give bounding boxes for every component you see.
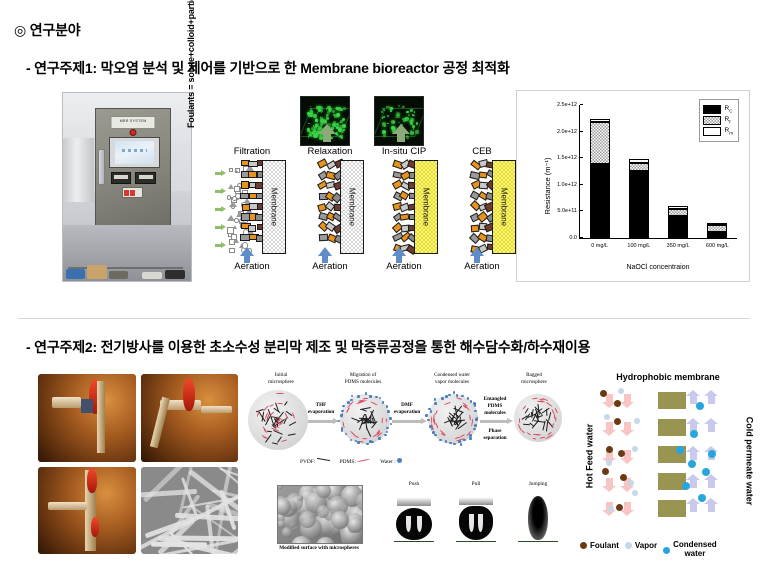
foulant-dot <box>618 450 625 457</box>
foulant-dot-icon <box>580 542 587 549</box>
foulants-axis-label: Foulants = solute+colloid+particle <box>186 0 196 128</box>
foulant-block <box>319 233 328 240</box>
pdms-chain-icon <box>357 458 370 463</box>
electrospinning-photo-1 <box>38 374 136 462</box>
water-molecule <box>441 397 444 400</box>
cake-layer <box>318 160 342 252</box>
chart-legend-swatch <box>703 105 721 114</box>
biofilm-dot <box>320 134 322 136</box>
droplet <box>91 517 100 536</box>
water-molecule <box>341 427 344 430</box>
vapor-dot <box>632 490 638 496</box>
droplet-title: Pull <box>452 481 500 487</box>
water-molecule <box>350 439 353 442</box>
indicator-lamp-icon <box>130 129 137 136</box>
water-molecule <box>453 391 456 394</box>
mbr-system-photo: MBR SYSTEM <box>62 92 192 282</box>
biofilm-dot <box>332 110 335 113</box>
chart-y-tick: 0.0 <box>569 235 580 241</box>
vapor-dot <box>608 506 614 512</box>
sem-caption: Modified surface with microspheres <box>258 545 380 551</box>
condensed-water-dot <box>702 468 710 476</box>
droplet-notch <box>417 516 422 532</box>
water-molecule <box>430 410 433 413</box>
biofilm-dot <box>311 127 314 130</box>
water-molecule <box>365 392 368 395</box>
biofilm-dot <box>412 125 414 127</box>
water-molecule <box>448 394 451 397</box>
foulant-particle <box>228 184 234 189</box>
chart-legend-swatch <box>703 116 721 125</box>
droplet-title: Push <box>390 481 438 487</box>
taylor-cone <box>87 468 98 493</box>
md-legend-label-line2: water <box>673 550 717 558</box>
md-legend-label: Foulant <box>590 541 619 550</box>
photo-pump-black <box>165 270 184 278</box>
biofilm-dot <box>338 128 342 132</box>
nanofiber <box>142 467 183 503</box>
biofilm-dot <box>337 113 339 115</box>
pdms-chain <box>354 435 359 438</box>
biofilm-dot <box>326 108 328 110</box>
chart-y-tick: 2.0e+12 <box>557 129 580 135</box>
md-left-axis: Hot Feed water <box>582 386 596 526</box>
pdms-chain <box>533 434 540 436</box>
chart-x-tick: 600 mg/L <box>706 243 729 249</box>
pdms-chain <box>444 402 451 405</box>
chart-legend-item: Rf <box>703 116 733 125</box>
microsphere-ragged <box>514 394 562 442</box>
water-molecule <box>474 410 477 413</box>
membrane-label: Membrane <box>270 188 279 226</box>
chart-y-tick: 2.5e+12 <box>557 102 580 108</box>
probe-plate <box>397 498 431 506</box>
foulant-dot <box>600 390 607 397</box>
stage-ceb: CEB Membrane Aeration <box>444 146 520 282</box>
water-molecule <box>463 439 466 442</box>
water-molecule <box>427 419 430 422</box>
water-molecule <box>473 428 476 431</box>
microsphere-particle <box>277 485 283 489</box>
photo-duct <box>63 138 94 202</box>
condensed-water-dot <box>676 446 684 454</box>
pdms-chain <box>518 424 522 432</box>
vapor-dot <box>632 446 638 452</box>
microsphere-caption: Initial microsphere <box>246 372 316 385</box>
chart-bar <box>707 223 727 238</box>
condensed-water-dot <box>688 460 696 468</box>
biofilm-dot <box>315 119 318 122</box>
chart-legend-item: Rm <box>703 127 733 136</box>
digital-meter-1 <box>111 172 132 184</box>
pvdf-chain <box>524 408 528 413</box>
membrane-slab <box>658 419 686 436</box>
chart-legend-item: RC <box>703 105 733 114</box>
biofilm-dot <box>410 109 413 112</box>
condensed-water-dot <box>696 402 704 410</box>
water-molecule <box>425 414 428 417</box>
md-legend-label: Condensed <box>673 540 717 549</box>
vapor-dot <box>634 418 640 424</box>
membrane-slab <box>658 392 686 409</box>
biofilm-dot <box>387 123 389 125</box>
process-step-label: Phase separation <box>478 428 512 442</box>
biofilm-dot <box>416 122 419 125</box>
microsphere-particle <box>299 511 316 528</box>
condensed-water-dot <box>698 494 706 502</box>
pdms-chain <box>531 397 537 399</box>
foulant-dot <box>614 400 621 407</box>
chart-x-axis-label: NaOCl concentraion <box>579 264 737 271</box>
digital-meter-2 <box>135 172 156 184</box>
photo-floor <box>63 225 191 281</box>
feed-flow-arrow <box>215 224 227 230</box>
condensed-water-dot <box>690 430 698 438</box>
biofilm-dot <box>390 107 393 110</box>
chart-y-axis-label: Resistance (m⁻¹) <box>543 158 552 215</box>
biofilm-dot <box>398 122 399 123</box>
legend-label-water: Water : <box>380 459 396 465</box>
foulant-particle <box>227 215 235 221</box>
foulant-block <box>240 193 248 199</box>
electrospinning-photo-grid <box>38 374 238 554</box>
condensed-water-dot <box>682 482 690 490</box>
chart-bar-segment-R_m <box>707 223 727 225</box>
water-molecule <box>474 424 477 427</box>
stage-title: Relaxation <box>292 146 368 157</box>
biofilm-dot <box>414 111 415 112</box>
aeration-label: Aeration <box>292 261 368 272</box>
syringe-nozzle <box>48 502 87 511</box>
pdms-chain <box>456 397 462 400</box>
foulant-particle <box>234 169 238 172</box>
water-molecule <box>342 405 345 408</box>
water-molecule <box>434 434 437 437</box>
droplet-test-pull: Pull <box>452 490 500 546</box>
legend-item-pdms: PDMS: <box>340 458 371 465</box>
chart-bar-segment-R_f <box>668 209 688 216</box>
sem-nanofiber-photo <box>141 467 239 555</box>
water-molecule <box>460 443 463 446</box>
water-molecule <box>469 437 472 440</box>
substrate-line <box>456 541 496 543</box>
chart-legend: RCRfRm <box>699 99 739 142</box>
water-molecule <box>386 405 389 408</box>
foulant-dot <box>616 504 623 511</box>
legend-label-pdms: PDMS: <box>340 459 356 465</box>
pdms-chain <box>471 418 473 426</box>
chart-bar <box>668 206 688 238</box>
water-molecule <box>386 431 389 434</box>
chart-bar-segment-R_m <box>590 119 610 122</box>
pdms-chain <box>469 415 471 421</box>
water-molecule <box>474 404 477 407</box>
water-molecule <box>340 414 343 417</box>
substrate-line <box>518 541 558 543</box>
cabinet-nameplate: MBR SYSTEM <box>111 116 156 128</box>
water-molecule <box>379 397 382 400</box>
biofilm-dot <box>318 109 321 112</box>
chart-bar-segment-R_m <box>668 206 688 209</box>
chart-x-tick: 0 mg/L <box>591 243 608 249</box>
microsphere-particle <box>316 537 335 544</box>
biofilm-dot <box>402 106 404 108</box>
biofilm-dot <box>413 128 415 130</box>
membrane-block: Membrane <box>262 160 286 254</box>
water-molecule <box>449 442 452 445</box>
pdms-chain <box>555 417 556 422</box>
droplet-test-push: Push <box>390 490 438 546</box>
water-molecule <box>371 441 374 444</box>
feed-flow-arrow <box>215 188 227 194</box>
process-step-label: Entangled PDMS molecules <box>478 396 512 416</box>
microsphere-legend: PVDF: PDMS: Water : <box>300 458 515 465</box>
pvdf-chain <box>365 423 367 430</box>
biofilm-dot <box>327 114 329 116</box>
cake-layer <box>470 160 494 252</box>
pdms-chain <box>436 423 439 429</box>
pvdf-chain <box>267 431 272 433</box>
aeration-arrow-icon <box>240 247 254 256</box>
vapor-dot <box>628 480 634 486</box>
pvdf-chain <box>284 401 288 406</box>
water-molecule <box>434 398 437 401</box>
md-title: Hydrophobic membrane <box>580 372 756 382</box>
pvdf-chain-icon <box>317 458 330 463</box>
biofilm-dot <box>309 134 313 138</box>
water-molecule <box>456 394 459 397</box>
pdms-chain <box>435 410 438 415</box>
resistance-bar-chart: Resistance (m⁻¹) 0.05.0e+111.0e+121.5e+1… <box>516 90 750 282</box>
water-molecule <box>357 441 360 444</box>
pdms-chain <box>555 407 559 413</box>
biofilm-dot <box>393 121 394 122</box>
water-molecule <box>432 431 435 434</box>
process-step-label: THF evaporation <box>304 402 338 416</box>
biofilm-dot <box>397 115 398 116</box>
vapor-dot-icon <box>625 542 632 549</box>
pdms-chain <box>356 401 365 405</box>
condensed-water-dot <box>708 450 716 458</box>
microsphere-caption: Condensed water vapor molecules <box>410 372 494 385</box>
biofilm-dot <box>406 136 409 139</box>
pvdf-chain <box>289 421 296 426</box>
chart-legend-label: Rf <box>725 116 731 124</box>
page-title: ◎ 연구분야 <box>14 20 80 40</box>
water-droplet <box>396 508 432 540</box>
water-dot-icon <box>397 458 402 463</box>
droplet-test-jumping: Jumping <box>514 490 562 546</box>
water-molecule <box>351 395 354 398</box>
vapor-dot <box>604 414 610 420</box>
foulant-particle <box>229 248 235 254</box>
photo-tank-blue <box>66 269 85 279</box>
chart-x-tick: 350 mg/L <box>667 243 690 249</box>
water-molecule <box>384 434 387 437</box>
water-molecule <box>345 433 348 436</box>
water-molecule <box>458 440 461 443</box>
tubing <box>201 406 232 414</box>
pdms-chain <box>382 417 384 423</box>
photo-tank-tan <box>87 265 106 279</box>
microsphere-particle <box>316 485 331 498</box>
membrane-slab <box>658 500 686 517</box>
microsphere-particle <box>282 527 293 538</box>
aeration-arrow-icon <box>318 247 332 256</box>
water-molecule <box>429 425 432 428</box>
microsphere-condensed-water <box>428 394 478 444</box>
pdms-chain <box>522 430 526 434</box>
chart-bar-segment-R_m <box>629 159 649 163</box>
electrospinning-photo-2 <box>141 374 239 462</box>
chart-y-tick: 1.0e+12 <box>557 182 580 188</box>
aeration-arrow-icon <box>470 247 484 256</box>
water-molecule <box>445 395 448 398</box>
water-molecule <box>357 395 360 398</box>
foulant-particle <box>229 201 237 207</box>
water-molecule <box>390 423 393 426</box>
md-legend: Foulant Vapor Condensed water <box>580 541 756 558</box>
section-divider <box>18 318 750 319</box>
md-left-label: Hot Feed water <box>584 424 594 489</box>
hmi-screen <box>115 141 154 164</box>
md-legend-label-wrap: Condensed water <box>673 541 717 558</box>
pdms-chain <box>362 438 367 439</box>
droplet-notch <box>469 514 474 532</box>
syringe-nozzle <box>52 397 81 408</box>
stage-title: CEB <box>444 146 520 157</box>
slide-root: ◎ 연구분야 - 연구주제1: 막오염 분석 및 제어를 기반으로 한 Memb… <box>0 0 768 576</box>
legend-item-pvdf: PVDF: <box>300 458 330 465</box>
water-molecule <box>369 440 372 443</box>
chart-x-tick: 100 mg/L <box>627 243 650 249</box>
water-molecule <box>386 427 389 430</box>
water-molecule <box>470 400 473 403</box>
microsphere-caption: Ragged microsphere <box>502 372 566 385</box>
stage-body: Membrane <box>444 160 520 252</box>
substrate-line <box>394 541 434 543</box>
biofilm-dot <box>408 114 410 116</box>
biofilm-dot <box>336 134 338 136</box>
stage-body: Membrane <box>214 160 290 252</box>
water-molecule <box>453 443 456 446</box>
water-molecule <box>434 402 437 405</box>
stage-filtration: Filtration Membrane Aeration <box>214 146 290 282</box>
biofilm-dot <box>383 134 386 137</box>
pdms-chain <box>537 401 543 403</box>
water-droplet <box>459 506 493 540</box>
water-molecule <box>375 396 378 399</box>
chart-bar <box>590 119 610 238</box>
biofilm-dot <box>343 107 346 110</box>
pdms-chain <box>347 407 350 411</box>
pdms-chain <box>292 412 295 419</box>
process-arrow <box>480 420 508 423</box>
support-rod <box>150 397 170 448</box>
water-molecule <box>382 401 385 404</box>
pdms-chain <box>276 393 284 394</box>
chart-bar-segment-R_C <box>668 216 688 238</box>
collector-post <box>97 381 106 453</box>
biofilm-dot <box>381 111 383 113</box>
up-arrow-icon <box>392 124 410 134</box>
md-legend-foulant: Foulant <box>580 541 619 550</box>
biofilm-dot <box>311 113 312 114</box>
chart-bar-segment-R_C <box>629 171 649 238</box>
pdms-chain <box>539 436 545 439</box>
chart-legend-swatch <box>703 127 721 136</box>
foulant-particle <box>231 234 237 240</box>
biofilm-dot <box>338 108 341 111</box>
md-legend-label: Vapor <box>635 541 657 550</box>
stage-title: In-situ CIP <box>366 146 442 157</box>
water-molecule <box>347 401 350 404</box>
taylor-cone <box>183 378 195 411</box>
md-right-label: Cold permeate water <box>744 417 754 506</box>
biofilm-dot <box>384 125 386 127</box>
chart-bar-segment-R_f <box>590 122 610 163</box>
biofilm-dot <box>320 117 322 119</box>
biofilm-dot <box>410 131 414 135</box>
pdms-chain <box>526 432 531 436</box>
pdms-chain <box>269 404 274 407</box>
biofilm-dot <box>415 130 418 133</box>
microsphere-particle <box>331 511 349 529</box>
chart-legend-label: RC <box>725 105 733 113</box>
condensed-dot-icon <box>663 547 670 554</box>
legend-label-pvdf: PVDF: <box>300 459 315 465</box>
biofilm-dot <box>321 112 322 113</box>
microsphere-particle <box>277 498 291 515</box>
membrane-distillation-diagram: Hydrophobic membrane Hot Feed water Cold… <box>580 372 756 558</box>
microsphere-particle <box>317 505 330 518</box>
cake-layer <box>392 160 416 252</box>
water-molecule <box>341 429 344 432</box>
electrospinning-photo-3 <box>38 467 136 555</box>
switch-panel <box>122 187 143 198</box>
droplet-notch <box>478 514 483 532</box>
pvdf-chain <box>362 409 368 412</box>
section-heading-topic2: - 연구주제2: 전기방사를 이용한 초소수성 분리막 제조 및 막증류공정을 … <box>26 337 590 357</box>
hmi-touch-panel <box>109 137 160 168</box>
pvdf-chain <box>546 409 547 416</box>
foulant-dot <box>606 446 613 453</box>
water-molecule <box>476 417 479 420</box>
foulant-dot <box>602 468 609 475</box>
photo-control-cabinet: MBR SYSTEM <box>95 108 171 227</box>
water-molecule <box>378 437 381 440</box>
chart-bar-segment-R_f <box>629 163 649 171</box>
biofilm-dot <box>390 110 391 111</box>
water-molecule <box>366 443 369 446</box>
foulant-block <box>248 171 257 178</box>
biofilm-dot <box>403 118 407 122</box>
aeration-label: Aeration <box>214 261 290 272</box>
membrane-block: Membrane <box>340 160 364 254</box>
chart-legend-label: Rm <box>725 127 733 135</box>
sample-chip <box>81 399 93 413</box>
stage-relaxation: Relaxation Membrane Aeration <box>292 146 368 282</box>
feed-flow-arrow <box>215 242 227 248</box>
microsphere-pdms-migration <box>340 394 390 444</box>
biofilm-dot <box>308 115 310 117</box>
pvdf-chain <box>288 433 296 435</box>
membrane-label: Membrane <box>422 188 431 226</box>
feed-flow-arrow <box>215 170 227 176</box>
stage-body: Membrane <box>366 160 442 252</box>
chart-bar-segment-R_C <box>707 232 727 238</box>
pdms-chain <box>281 439 287 442</box>
